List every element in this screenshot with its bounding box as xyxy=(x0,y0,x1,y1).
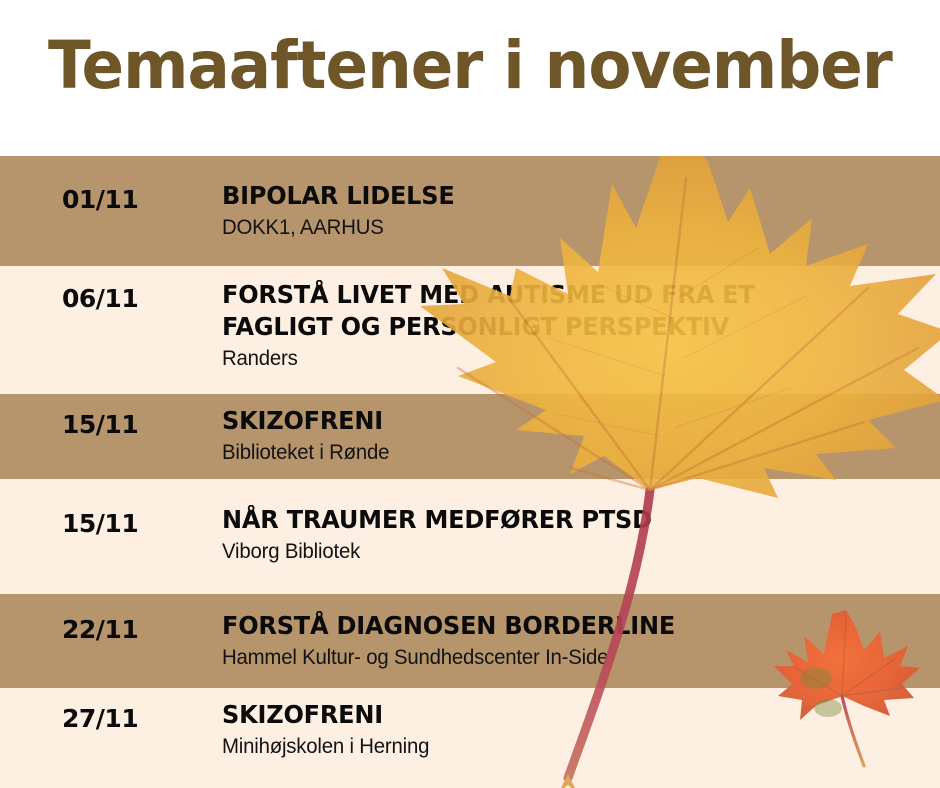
event-date: 15/11 xyxy=(62,410,138,439)
event-row: 15/11 SKIZOFRENI Biblioteket i Rønde xyxy=(0,394,940,479)
event-row: 15/11 NÅR TRAUMER MEDFØRER PTSD Viborg B… xyxy=(0,479,940,594)
event-row: 06/11 FORSTÅ LIVET MED AUTISME UD FRA ET… xyxy=(0,266,940,394)
event-venue: DOKK1, AARHUS xyxy=(222,214,909,241)
event-date: 06/11 xyxy=(62,284,138,313)
event-title: BIPOLAR LIDELSE xyxy=(222,180,902,212)
event-body: SKIZOFRENI Minihøjskolen i Herning xyxy=(222,699,930,760)
event-body: FORSTÅ LIVET MED AUTISME UD FRA ET FAGLI… xyxy=(222,279,930,372)
event-title: NÅR TRAUMER MEDFØRER PTSD xyxy=(222,504,902,536)
page-title: Temaaftener i november xyxy=(48,26,892,105)
event-date: 15/11 xyxy=(62,509,138,538)
event-venue: Minihøjskolen i Herning xyxy=(222,733,909,760)
event-row: 01/11 BIPOLAR LIDELSE DOKK1, AARHUS xyxy=(0,156,940,266)
event-title: FORSTÅ LIVET MED AUTISME UD FRA ET FAGLI… xyxy=(222,279,902,343)
event-poster: 01/11 BIPOLAR LIDELSE DOKK1, AARHUS 06/1… xyxy=(0,0,940,788)
event-date: 27/11 xyxy=(62,704,138,733)
event-venue: Biblioteket i Rønde xyxy=(222,439,909,466)
event-title: SKIZOFRENI xyxy=(222,405,902,437)
event-venue: Hammel Kultur- og Sundhedscenter In-Side xyxy=(222,644,909,671)
event-row: 22/11 FORSTÅ DIAGNOSEN BORDERLINE Hammel… xyxy=(0,594,940,688)
event-date: 01/11 xyxy=(62,185,138,214)
event-title: SKIZOFRENI xyxy=(222,699,902,731)
event-body: NÅR TRAUMER MEDFØRER PTSD Viborg Bibliot… xyxy=(222,504,930,565)
event-row: 27/11 SKIZOFRENI Minihøjskolen i Herning xyxy=(0,688,940,788)
event-date: 22/11 xyxy=(62,615,138,644)
event-body: FORSTÅ DIAGNOSEN BORDERLINE Hammel Kultu… xyxy=(222,610,930,671)
event-title: FORSTÅ DIAGNOSEN BORDERLINE xyxy=(222,610,902,642)
event-venue: Viborg Bibliotek xyxy=(222,538,909,565)
title-bar: Temaaftener i november xyxy=(0,0,940,156)
event-body: BIPOLAR LIDELSE DOKK1, AARHUS xyxy=(222,180,930,241)
event-body: SKIZOFRENI Biblioteket i Rønde xyxy=(222,405,930,466)
event-venue: Randers xyxy=(222,345,909,372)
